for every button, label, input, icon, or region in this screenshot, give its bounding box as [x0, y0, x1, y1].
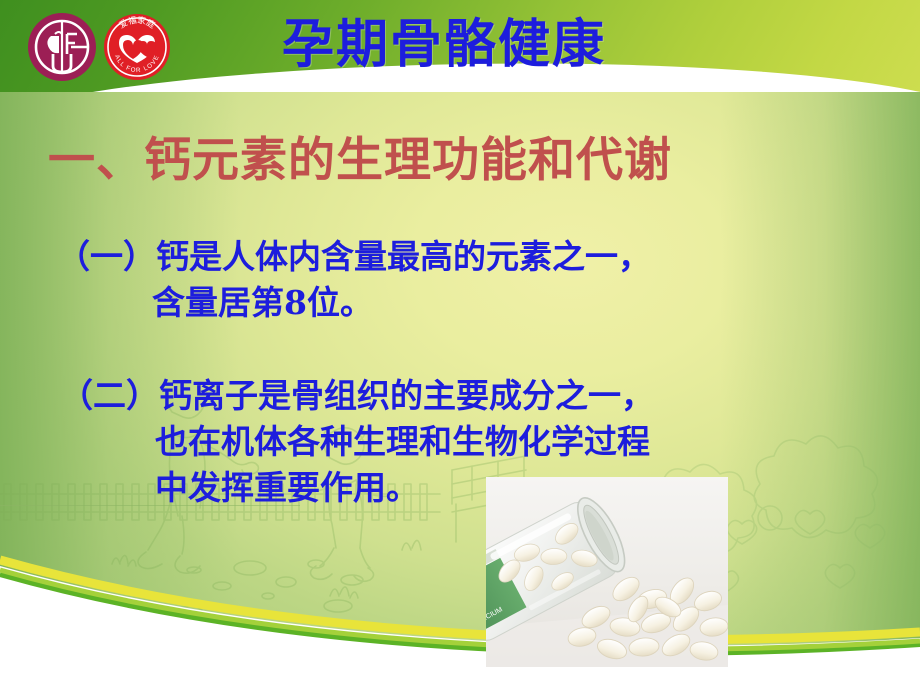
all-for-love-logo: 爱福家庭 ALL FOR LOVE: [103, 13, 171, 81]
paragraph-two-line-2: 也在机体各种生理和生物化学过程: [60, 419, 654, 465]
section-heading: 一、钙元素的生理功能和代谢: [48, 130, 672, 192]
paragraph-two-line-1: （二）钙离子是骨组织的主要成分之一，: [60, 376, 654, 415]
paragraph-one-line-2: 含量居第8位。: [57, 280, 651, 326]
acwf-logo: [27, 12, 97, 82]
calcium-tablets-photo: HEALTH CALCIUM: [486, 477, 728, 667]
background-left-edge-shade: [0, 0, 240, 690]
paragraph-one: （一）钙是人体内含量最高的元素之一， 含量居第8位。: [57, 234, 651, 326]
slide-title: 孕期骨骼健康: [282, 12, 606, 78]
background-right-edge-shade: [720, 0, 920, 690]
slide-canvas: 爱福家庭 ALL FOR LOVE 孕期骨骼健康 一、钙元素的生理功能和代谢 （…: [0, 0, 920, 690]
paragraph-one-line-1: （一）钙是人体内含量最高的元素之一，: [57, 237, 651, 276]
